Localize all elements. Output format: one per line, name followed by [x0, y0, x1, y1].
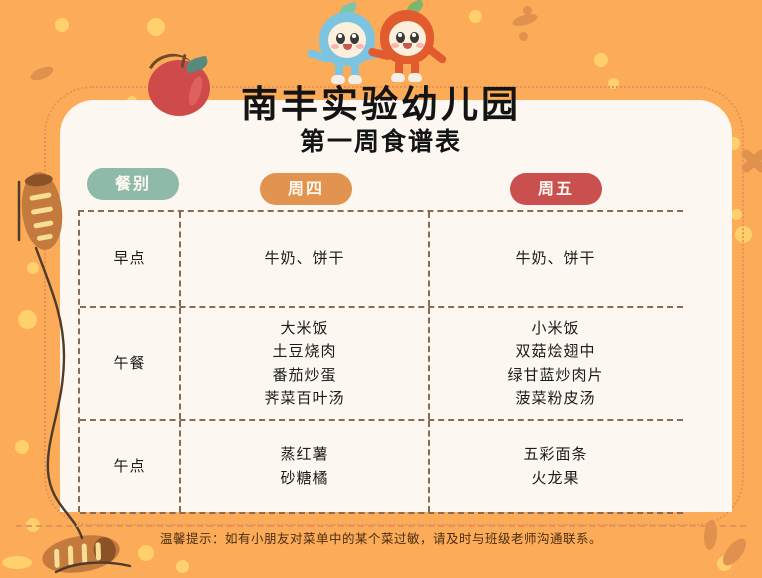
bread-line-decor: [14, 180, 24, 242]
table-row: 午餐 大米饭 土豆烧肉 番茄炒蛋 荠菜百叶汤 小米饭 双菇烩翅中 绿甘蓝炒肉片 …: [80, 308, 683, 421]
cell-friday: 五彩面条 火龙果: [430, 421, 681, 512]
bg-dot: [176, 560, 189, 573]
bg-blob: [523, 6, 532, 15]
cell-thursday: 蒸红薯 砂糖橘: [181, 421, 430, 512]
table-header-pills: 餐别 周四 周五: [78, 168, 683, 206]
title-sub: 第一周食谱表: [0, 128, 762, 156]
poster-canvas: 南丰实验幼儿园 第一周食谱表 餐别 周四 周五 早点 牛奶、饼干 牛奶、饼干 午…: [0, 0, 762, 574]
cell-thursday: 大米饭 土豆烧肉 番茄炒蛋 荠菜百叶汤: [181, 308, 430, 419]
cell-thursday: 牛奶、饼干: [181, 212, 430, 306]
cell-text: 牛奶、饼干: [264, 247, 344, 270]
bg-dot: [15, 440, 29, 454]
bg-dot: [594, 53, 608, 67]
cell-text: 午点: [113, 455, 145, 478]
cell-meal: 午点: [80, 421, 181, 512]
cell-text: 牛奶、饼干: [515, 247, 595, 270]
persimmon-mascot-icon: [376, 4, 438, 82]
cell-text: 午餐: [113, 352, 145, 375]
bg-blob: [519, 32, 528, 41]
cell-text: 大米饭 土豆烧肉 番茄炒蛋 荠菜百叶汤: [264, 317, 344, 410]
bg-dot: [147, 18, 165, 36]
cell-friday: 牛奶、饼干: [430, 212, 681, 306]
column-header-meal: 餐别: [87, 168, 179, 200]
cell-meal: 早点: [80, 212, 181, 306]
blueberry-mascot-icon: [315, 6, 379, 84]
cell-meal: 午餐: [80, 308, 181, 419]
bg-dot: [138, 545, 154, 561]
table-row: 午点 蒸红薯 砂糖橘 五彩面条 火龙果: [80, 421, 683, 514]
cell-text: 小米饭 双菇烩翅中 绿甘蓝炒肉片 菠菜粉皮汤: [507, 317, 603, 410]
bg-blob: [29, 64, 55, 83]
title-main: 南丰实验幼儿园: [0, 86, 762, 125]
footer-divider: [16, 525, 746, 527]
page-title: 南丰实验幼儿园 第一周食谱表: [0, 86, 762, 155]
cell-text: 早点: [113, 247, 145, 270]
menu-table: 早点 牛奶、饼干 牛奶、饼干 午餐 大米饭 土豆烧肉 番茄炒蛋 荠菜百叶汤 小米…: [78, 210, 683, 512]
bread-underline-decor: [54, 560, 134, 578]
bg-dot: [2, 556, 32, 569]
cell-text: 蒸红薯 砂糖橘: [280, 443, 328, 490]
cell-friday: 小米饭 双菇烩翅中 绿甘蓝炒肉片 菠菜粉皮汤: [430, 308, 681, 419]
bg-dot: [469, 10, 482, 23]
footer-note: 温馨提示：如有小朋友对菜单中的某个菜过敏，请及时与班级老师沟通联系。: [0, 528, 762, 547]
table-row: 早点 牛奶、饼干 牛奶、饼干: [80, 212, 683, 308]
bg-dot: [55, 18, 69, 32]
cell-text: 五彩面条 火龙果: [523, 443, 587, 490]
column-header-thursday: 周四: [260, 173, 352, 205]
column-header-friday: 周五: [510, 173, 602, 205]
